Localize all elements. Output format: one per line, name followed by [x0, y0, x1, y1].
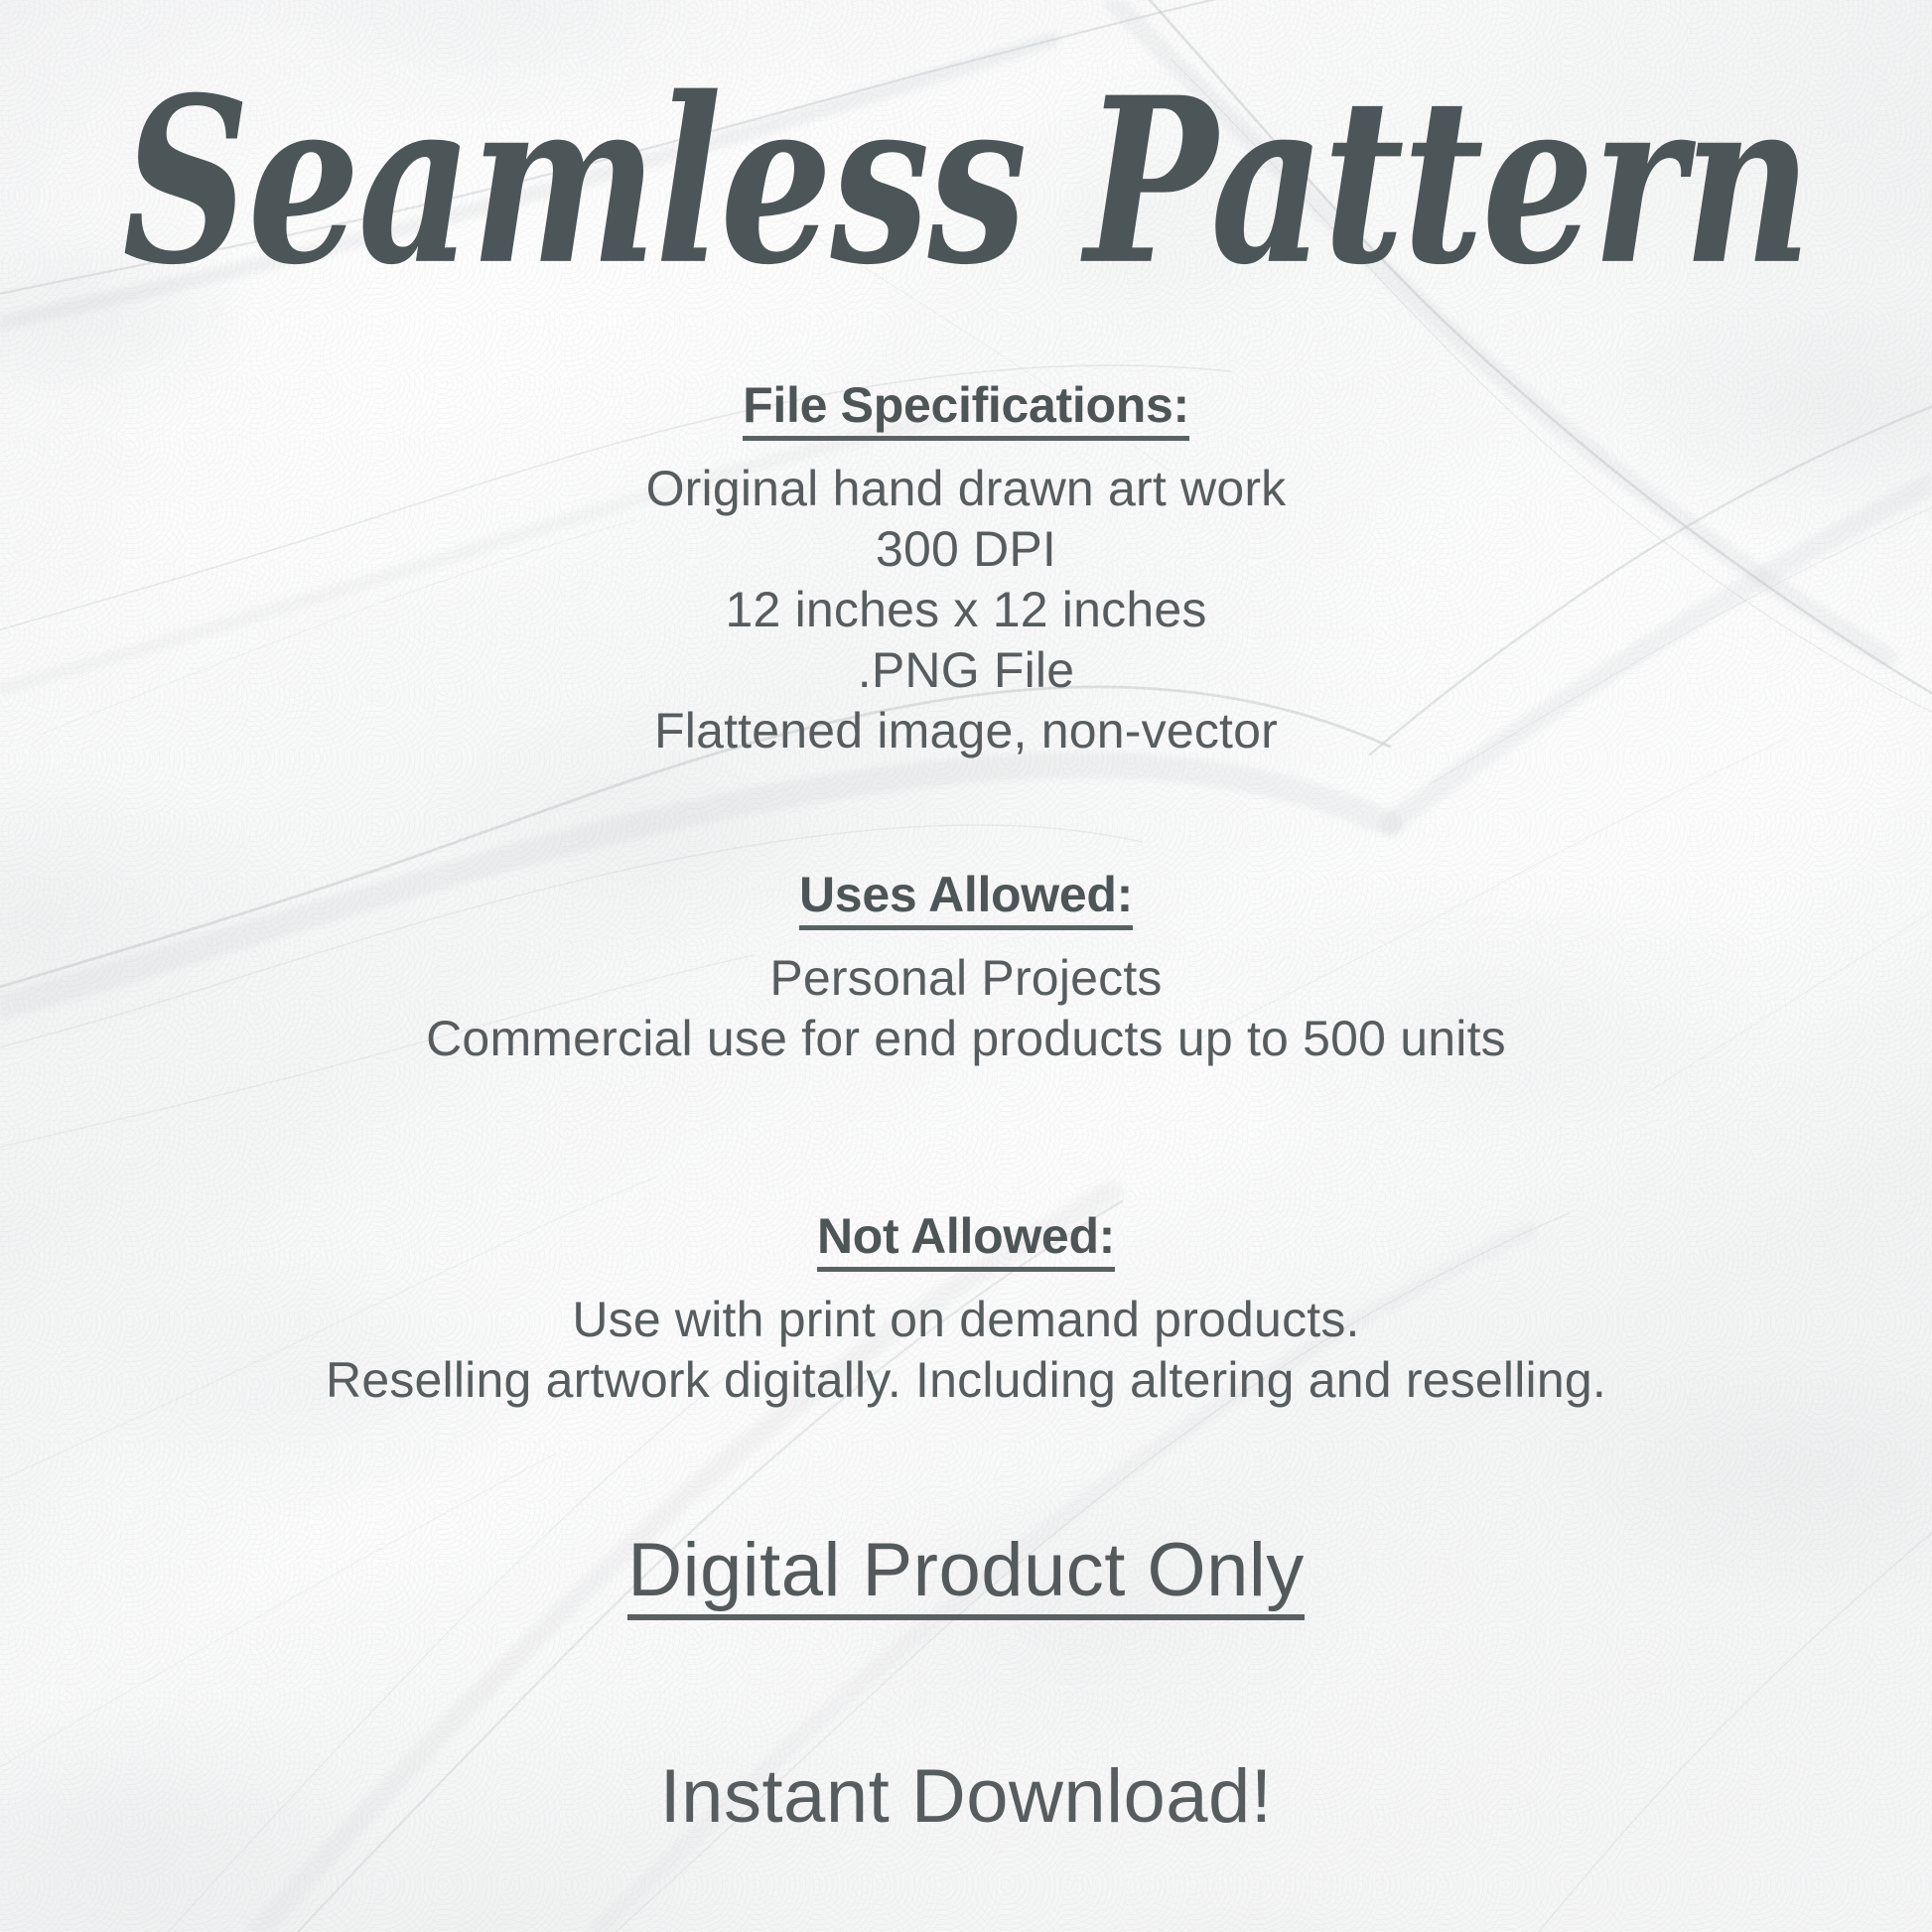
section-heading-uses-allowed: Uses Allowed: [799, 867, 1133, 930]
section-lines-uses-allowed: Personal Projects Commercial use for end… [0, 948, 1932, 1069]
section-not-allowed: Not Allowed: Use with print on demand pr… [0, 1208, 1932, 1411]
section-file-specifications: File Specifications: Original hand drawn… [0, 377, 1932, 761]
uses-allowed-line: Personal Projects [0, 948, 1932, 1009]
section-lines-not-allowed: Use with print on demand products. Resel… [0, 1290, 1932, 1411]
digital-product-only-text: Digital Product Only [627, 1529, 1305, 1620]
spec-line: 12 inches x 12 inches [0, 580, 1932, 640]
spec-line: .PNG File [0, 640, 1932, 701]
instant-download-text: Instant Download! [0, 1755, 1932, 1839]
poster-content: Seamless Pattern File Specifications: Or… [0, 0, 1932, 1932]
not-allowed-line: Reselling artwork digitally. Including a… [0, 1350, 1932, 1411]
uses-allowed-line: Commercial use for end products up to 50… [0, 1009, 1932, 1069]
spec-line: 300 DPI [0, 519, 1932, 580]
marble-info-poster: Seamless Pattern File Specifications: Or… [0, 0, 1932, 1932]
not-allowed-line: Use with print on demand products. [0, 1290, 1932, 1350]
instant-download-block: Instant Download! [0, 1755, 1932, 1839]
poster-title: Seamless Pattern [39, 62, 1893, 301]
section-heading-file-specifications: File Specifications: [743, 377, 1189, 441]
section-uses-allowed: Uses Allowed: Personal Projects Commerci… [0, 867, 1932, 1069]
spec-line: Original hand drawn art work [0, 459, 1932, 519]
section-heading-not-allowed: Not Allowed: [817, 1208, 1115, 1272]
section-lines-file-specifications: Original hand drawn art work 300 DPI 12 … [0, 459, 1932, 761]
digital-product-only-block: Digital Product Only [0, 1529, 1932, 1620]
spec-line: Flattened image, non-vector [0, 701, 1932, 761]
